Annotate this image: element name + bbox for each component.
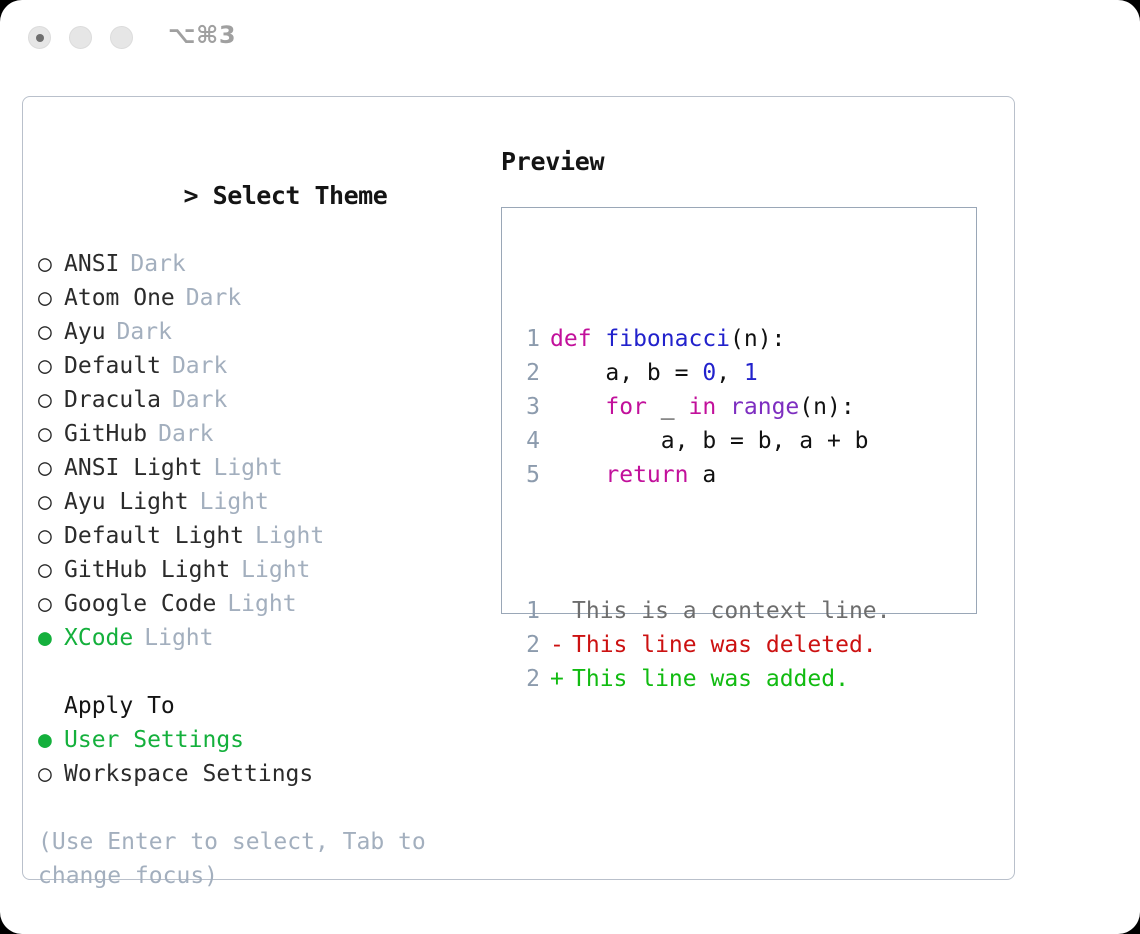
theme-option-label: ANSI <box>64 247 119 281</box>
radio-unselected-icon: ○ <box>38 587 64 621</box>
radio-unselected-icon: ○ <box>38 383 64 417</box>
theme-option-kind-badge: Light <box>144 621 213 655</box>
code-token-pl <box>716 394 730 420</box>
code-token-kw: return <box>605 462 688 488</box>
code-token-fn: fibonacci <box>605 326 730 352</box>
code-token-pl: , <box>716 360 744 386</box>
diff-line-added: 2+This line was added. <box>512 662 891 696</box>
line-number: 2 <box>512 662 540 696</box>
title-bar: ⌥⌘3 <box>0 0 1140 76</box>
theme-option-kind-badge: Dark <box>172 383 227 417</box>
theme-option-label: Google Code <box>64 587 216 621</box>
theme-option-label: Default Light <box>64 519 244 553</box>
theme-option-kind-badge: Dark <box>158 417 213 451</box>
theme-option-ayu[interactable]: ○AyuDark <box>38 315 498 349</box>
line-number: 3 <box>512 390 540 424</box>
theme-option-kind-badge: Dark <box>172 349 227 383</box>
theme-option-kind-badge: Light <box>255 519 324 553</box>
prompt-caret-icon: > <box>184 181 199 210</box>
line-number: 1 <box>512 594 540 628</box>
code-token-kw: def <box>550 326 605 352</box>
theme-option-ayu-light[interactable]: ○Ayu LightLight <box>38 485 498 519</box>
code-line: 5 return a <box>512 458 891 492</box>
theme-option-label: Ayu Light <box>64 485 189 519</box>
apply-to-option-workspace-settings[interactable]: ○Workspace Settings <box>38 757 498 791</box>
code-token-pl: a, b = b, a + b <box>550 428 869 454</box>
code-token-call: range <box>730 394 799 420</box>
keyboard-shortcut-label: ⌥⌘3 <box>168 21 236 49</box>
radio-unselected-icon: ○ <box>38 485 64 519</box>
radio-unselected-icon: ○ <box>38 519 64 553</box>
theme-selection-column: > Select Theme ○ANSIDark○Atom OneDark○Ay… <box>38 145 498 893</box>
theme-option-label: Default <box>64 349 161 383</box>
code-token-pl <box>550 462 605 488</box>
radio-unselected-icon: ○ <box>38 281 64 315</box>
code-token-pl <box>550 394 605 420</box>
apply-to-option-label: Workspace Settings <box>64 757 313 791</box>
radio-unselected-icon: ○ <box>38 417 64 451</box>
theme-option-label: Ayu <box>64 315 106 349</box>
window-close-button[interactable] <box>28 26 51 49</box>
app-window: ⌥⌘3 > Select Theme ○ANSIDark○Atom OneDar… <box>0 0 1140 934</box>
preview-title: Preview <box>501 145 1001 179</box>
theme-option-ansi-light[interactable]: ○ANSI LightLight <box>38 451 498 485</box>
theme-option-atom-one[interactable]: ○Atom OneDark <box>38 281 498 315</box>
diff-text: This is a context line. <box>572 598 891 624</box>
tui-panel: > Select Theme ○ANSIDark○Atom OneDark○Ay… <box>22 96 1015 880</box>
traffic-light-controls <box>28 26 133 49</box>
radio-selected-icon: ● <box>38 723 64 757</box>
diff-sign: - <box>550 628 572 662</box>
line-number: 1 <box>512 322 540 356</box>
theme-option-kind-badge: Light <box>241 553 310 587</box>
theme-option-ansi[interactable]: ○ANSIDark <box>38 247 498 281</box>
radio-unselected-icon: ○ <box>38 757 64 791</box>
theme-option-label: Atom One <box>64 281 175 315</box>
code-token-kw: for <box>605 394 647 420</box>
theme-option-default[interactable]: ○DefaultDark <box>38 349 498 383</box>
code-token-pl: a <box>688 462 716 488</box>
theme-option-github[interactable]: ○GitHubDark <box>38 417 498 451</box>
line-number: 5 <box>512 458 540 492</box>
theme-option-kind-badge: Dark <box>117 315 172 349</box>
code-line: 3 for _ in range(n): <box>512 390 891 424</box>
apply-to-heading: Apply To <box>38 689 498 723</box>
theme-option-label: Dracula <box>64 383 161 417</box>
theme-option-github-light[interactable]: ○GitHub LightLight <box>38 553 498 587</box>
theme-option-kind-badge: Light <box>213 451 282 485</box>
radio-selected-icon: ● <box>38 621 64 655</box>
theme-option-list: ○ANSIDark○Atom OneDark○AyuDark○DefaultDa… <box>38 247 498 655</box>
apply-to-option-list: ●User Settings○Workspace Settings <box>38 723 498 791</box>
select-theme-title: > Select Theme <box>38 145 498 247</box>
code-line: 4 a, b = b, a + b <box>512 424 891 458</box>
theme-option-kind-badge: Light <box>200 485 269 519</box>
theme-option-kind-badge: Dark <box>186 281 241 315</box>
diff-sign <box>550 594 572 628</box>
code-preview: 1def fibonacci(n):2 a, b = 0, 13 for _ i… <box>512 254 891 764</box>
code-token-kw: in <box>688 394 716 420</box>
theme-option-label: GitHub <box>64 417 147 451</box>
preview-box: 1def fibonacci(n):2 a, b = 0, 13 for _ i… <box>501 207 977 614</box>
select-theme-title-text: Select Theme <box>213 181 388 210</box>
line-number: 4 <box>512 424 540 458</box>
theme-option-kind-badge: Light <box>227 587 296 621</box>
theme-option-label: ANSI Light <box>64 451 202 485</box>
code-token-pl: a, b = <box>550 360 702 386</box>
keyboard-hint-text: (Use Enter to select, Tab to change focu… <box>38 825 458 893</box>
diff-line-context: 1 This is a context line. <box>512 594 891 628</box>
apply-to-option-label: User Settings <box>64 723 244 757</box>
diff-text: This line was deleted. <box>572 632 877 658</box>
theme-option-dracula[interactable]: ○DraculaDark <box>38 383 498 417</box>
theme-option-kind-badge: Dark <box>130 247 185 281</box>
theme-option-default-light[interactable]: ○Default LightLight <box>38 519 498 553</box>
code-token-pl: _ <box>647 394 689 420</box>
window-maximize-button[interactable] <box>110 26 133 49</box>
code-token-pl: (n): <box>730 326 785 352</box>
theme-option-label: GitHub Light <box>64 553 230 587</box>
window-minimize-button[interactable] <box>69 26 92 49</box>
radio-unselected-icon: ○ <box>38 247 64 281</box>
preview-column: Preview 1def fibonacci(n):2 a, b = 0, 13… <box>501 145 1001 614</box>
diff-sample-lines: 1 This is a context line.2-This line was… <box>512 594 891 696</box>
code-line: 1def fibonacci(n): <box>512 322 891 356</box>
radio-unselected-icon: ○ <box>38 349 64 383</box>
line-number: 2 <box>512 356 540 390</box>
code-token-num: 0 <box>702 360 716 386</box>
spacer <box>38 655 498 689</box>
code-token-pl: (n): <box>799 394 854 420</box>
theme-option-google-code[interactable]: ○Google CodeLight <box>38 587 498 621</box>
diff-text: This line was added. <box>572 666 849 692</box>
radio-unselected-icon: ○ <box>38 451 64 485</box>
code-line: 2 a, b = 0, 1 <box>512 356 891 390</box>
line-number: 2 <box>512 628 540 662</box>
syntax-sample-lines: 1def fibonacci(n):2 a, b = 0, 13 for _ i… <box>512 322 891 492</box>
radio-unselected-icon: ○ <box>38 553 64 587</box>
theme-option-xcode[interactable]: ●XCodeLight <box>38 621 498 655</box>
code-token-num: 1 <box>744 360 758 386</box>
diff-line-deleted: 2-This line was deleted. <box>512 628 891 662</box>
diff-sign: + <box>550 662 572 696</box>
apply-to-option-user-settings[interactable]: ●User Settings <box>38 723 498 757</box>
radio-unselected-icon: ○ <box>38 315 64 349</box>
theme-option-label: XCode <box>64 621 133 655</box>
